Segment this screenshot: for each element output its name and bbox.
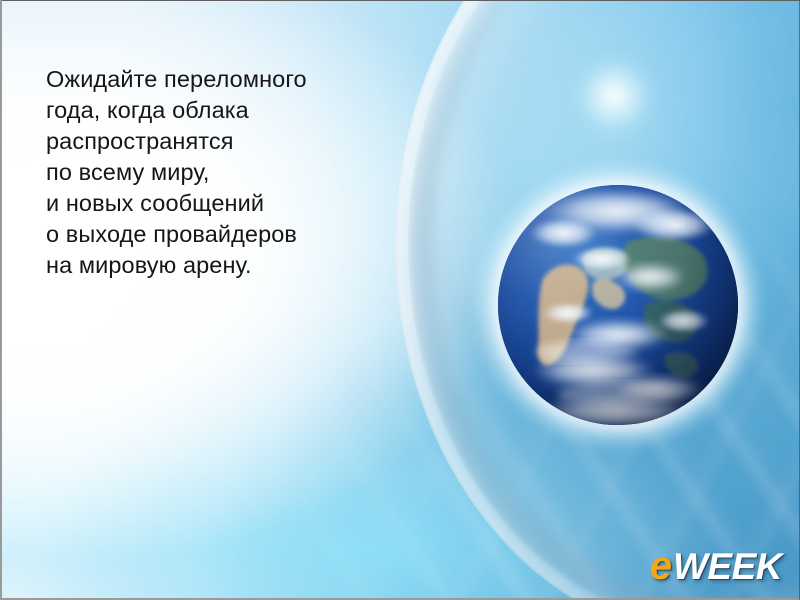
eweek-logo: e WEEK (650, 546, 782, 586)
slide-border-left (0, 0, 2, 600)
earth-globe (498, 185, 738, 425)
light-flare-icon (557, 39, 671, 153)
slide-canvas: Ожидайте переломного года, когда облака … (0, 0, 800, 600)
eweek-logo-week: WEEK (673, 548, 782, 585)
earth-terminator-shading (498, 185, 738, 425)
slide-border-top (0, 0, 800, 1)
slide-body-text: Ожидайте переломного года, когда облака … (46, 64, 376, 281)
eweek-logo-e: e (650, 546, 672, 586)
